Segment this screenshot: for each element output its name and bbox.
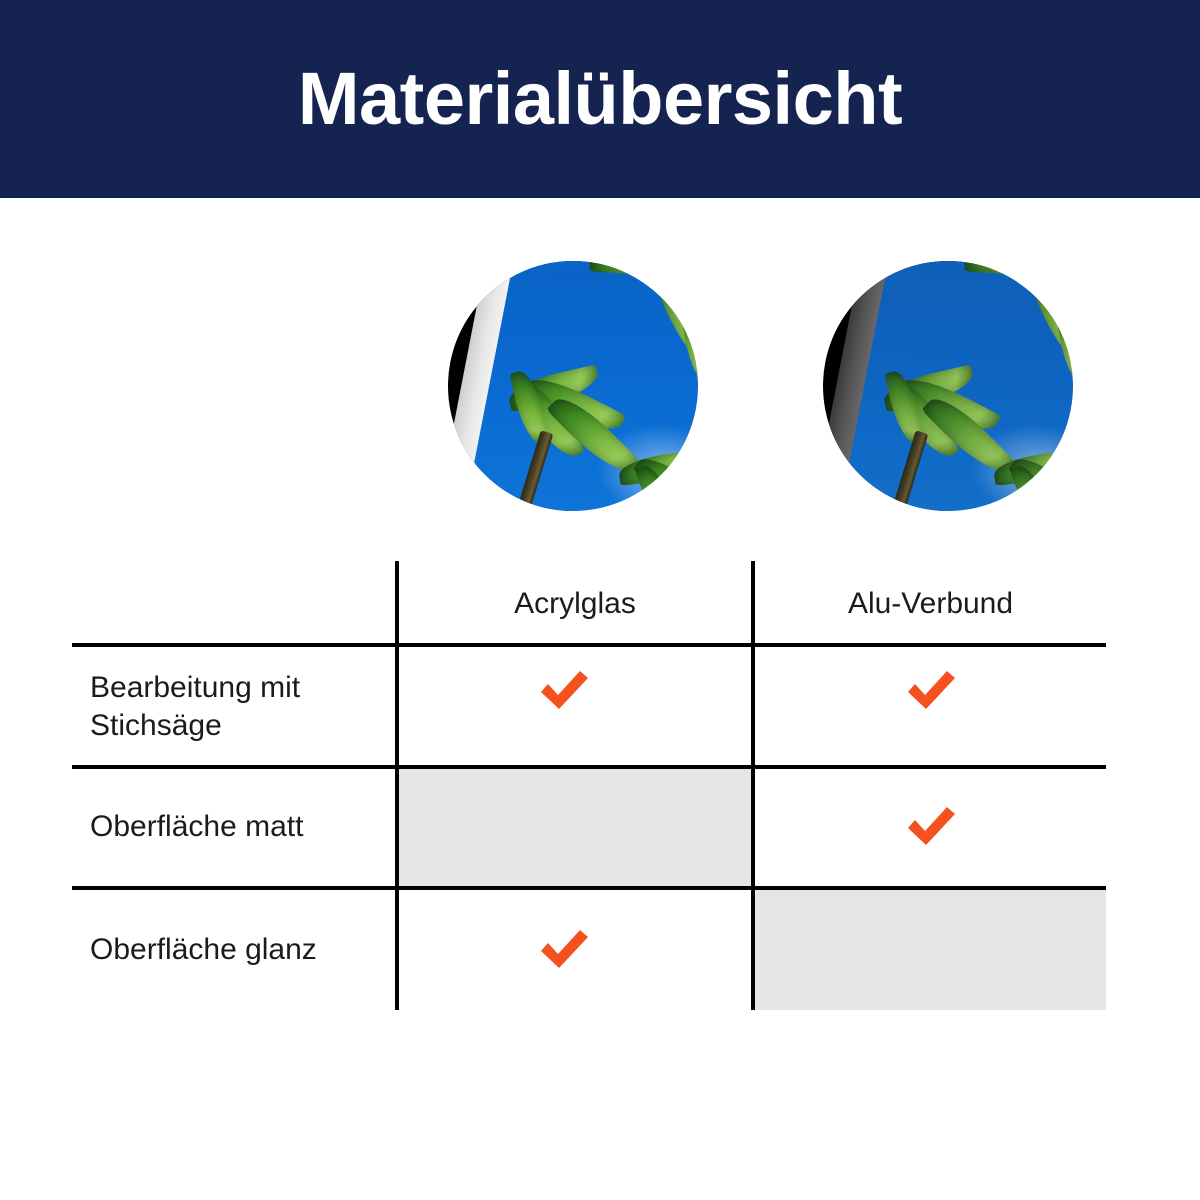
alu-verbund-product-photo — [823, 261, 1073, 511]
acrylglas-product-photo — [448, 261, 698, 511]
material-thumbnails — [0, 258, 1200, 516]
cell-acrylglas-oberflaeche-matt-unavailable — [399, 768, 751, 888]
checkmark-alu-verbund-oberflaeche-matt — [900, 796, 962, 858]
table-rule-header-bottom — [72, 643, 1106, 647]
material-overview-page: Materialübersicht — [0, 0, 1200, 1200]
thumbnail-acrylglas[interactable] — [448, 261, 698, 511]
row-label-oberflaeche-matt: Oberfläche matt — [90, 769, 390, 886]
checkmark-acrylglas-bearbeitung-mit-stichsaege — [533, 660, 595, 722]
cell-alu-verbund-oberflaeche-glanz-unavailable — [755, 889, 1106, 1010]
checkmark-alu-verbund-bearbeitung-mit-stichsaege — [900, 660, 962, 722]
page-header: Materialübersicht — [0, 0, 1200, 198]
material-comparison-table: Acrylglas Alu-Verbund Bearbeitung mit St… — [72, 556, 1106, 1012]
thumbnail-alu-verbund[interactable] — [823, 261, 1073, 511]
column-header-acrylglas: Acrylglas — [399, 574, 751, 634]
page-title: Materialübersicht — [298, 62, 902, 136]
row-label-bearbeitung-mit-stichsaege: Bearbeitung mit Stichsäge — [90, 649, 390, 765]
checkmark-acrylglas-oberflaeche-glanz — [533, 919, 595, 981]
column-header-alu-verbund: Alu-Verbund — [755, 574, 1106, 634]
row-label-oberflaeche-glanz: Oberfläche glanz — [90, 890, 390, 1010]
